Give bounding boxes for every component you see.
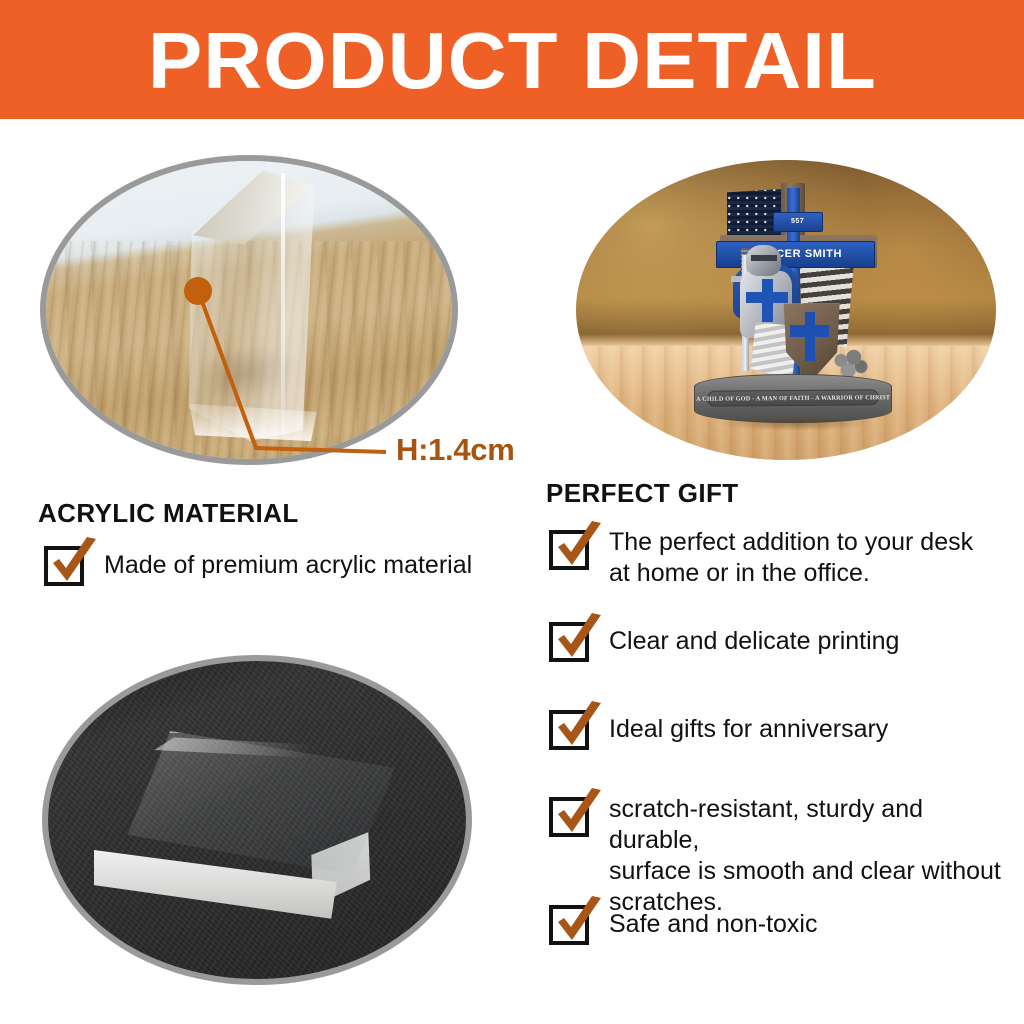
checkbox-checked[interactable]	[549, 622, 589, 662]
feature-item: Clear and delicate printing	[549, 622, 1009, 662]
feature-text: The perfect addition to your desk at hom…	[609, 527, 973, 589]
acrylic-edge-highlight	[281, 173, 285, 435]
checkmark-icon	[552, 701, 605, 754]
checkmark-icon	[552, 788, 605, 841]
checkbox-checked[interactable]	[549, 905, 589, 945]
feature-text: Ideal gifts for anniversary	[609, 714, 888, 745]
feature-item: The perfect addition to your desk at hom…	[549, 530, 1009, 589]
badge-number-text: 557	[791, 218, 804, 225]
statue-image: 557 OFFICER SMITH	[576, 160, 996, 460]
badge-number-ribbon: 557	[773, 212, 823, 232]
officer-nameplate: OFFICER SMITH	[716, 241, 875, 268]
tabard-cross-horizontal	[746, 292, 787, 304]
checkbox-checked[interactable]	[549, 710, 589, 750]
shield-cross-vertical	[805, 312, 815, 361]
section-heading-acrylic-material: ACRYLIC MATERIAL	[38, 498, 299, 529]
height-callout-label: H:1.4cm	[396, 432, 515, 468]
page-title: PRODUCT DETAIL	[147, 21, 876, 101]
shield-cross-horizontal	[790, 325, 829, 337]
feature-item: scratch-resistant, sturdy and durable, s…	[549, 797, 1009, 918]
photo-knight-statue: 557 OFFICER SMITH	[576, 160, 996, 460]
checkmark-icon	[552, 521, 605, 574]
feature-text: Clear and delicate printing	[609, 626, 899, 657]
helmet-visor-slit	[751, 255, 777, 260]
feature-text: scratch-resistant, sturdy and durable, s…	[609, 794, 1009, 918]
photo-acrylic-edge	[40, 155, 458, 465]
photo-acrylic-block	[42, 655, 472, 985]
base-inscription-plate: A CHILD OF GOD - A MAN OF FAITH - A WARR…	[707, 389, 879, 407]
header-banner: PRODUCT DETAIL	[0, 0, 1024, 119]
checkmark-icon	[47, 537, 100, 590]
feature-item: Ideal gifts for anniversary	[549, 710, 1009, 750]
acrylic-edge-image	[46, 161, 452, 459]
feature-text: Made of premium acrylic material	[104, 550, 472, 581]
statue-shadow	[716, 415, 873, 430]
feature-text: Safe and non-toxic	[609, 909, 817, 940]
section-heading-perfect-gift: PERFECT GIFT	[546, 478, 739, 509]
product-detail-infographic: PRODUCT DETAIL 557	[0, 0, 1024, 1024]
knight-helmet	[746, 245, 781, 276]
checkmark-icon	[552, 896, 605, 949]
checkbox-checked[interactable]	[549, 530, 589, 570]
feature-item: Made of premium acrylic material	[44, 546, 514, 586]
checkmark-icon	[552, 613, 605, 666]
checkbox-checked[interactable]	[44, 546, 84, 586]
base-inscription-text: A CHILD OF GOD - A MAN OF FAITH - A WARR…	[696, 393, 890, 402]
knight-statue-figure: 557 OFFICER SMITH	[685, 178, 903, 436]
checkbox-checked[interactable]	[549, 797, 589, 837]
acrylic-block-image	[48, 661, 466, 979]
feature-item: Safe and non-toxic	[549, 905, 1009, 945]
